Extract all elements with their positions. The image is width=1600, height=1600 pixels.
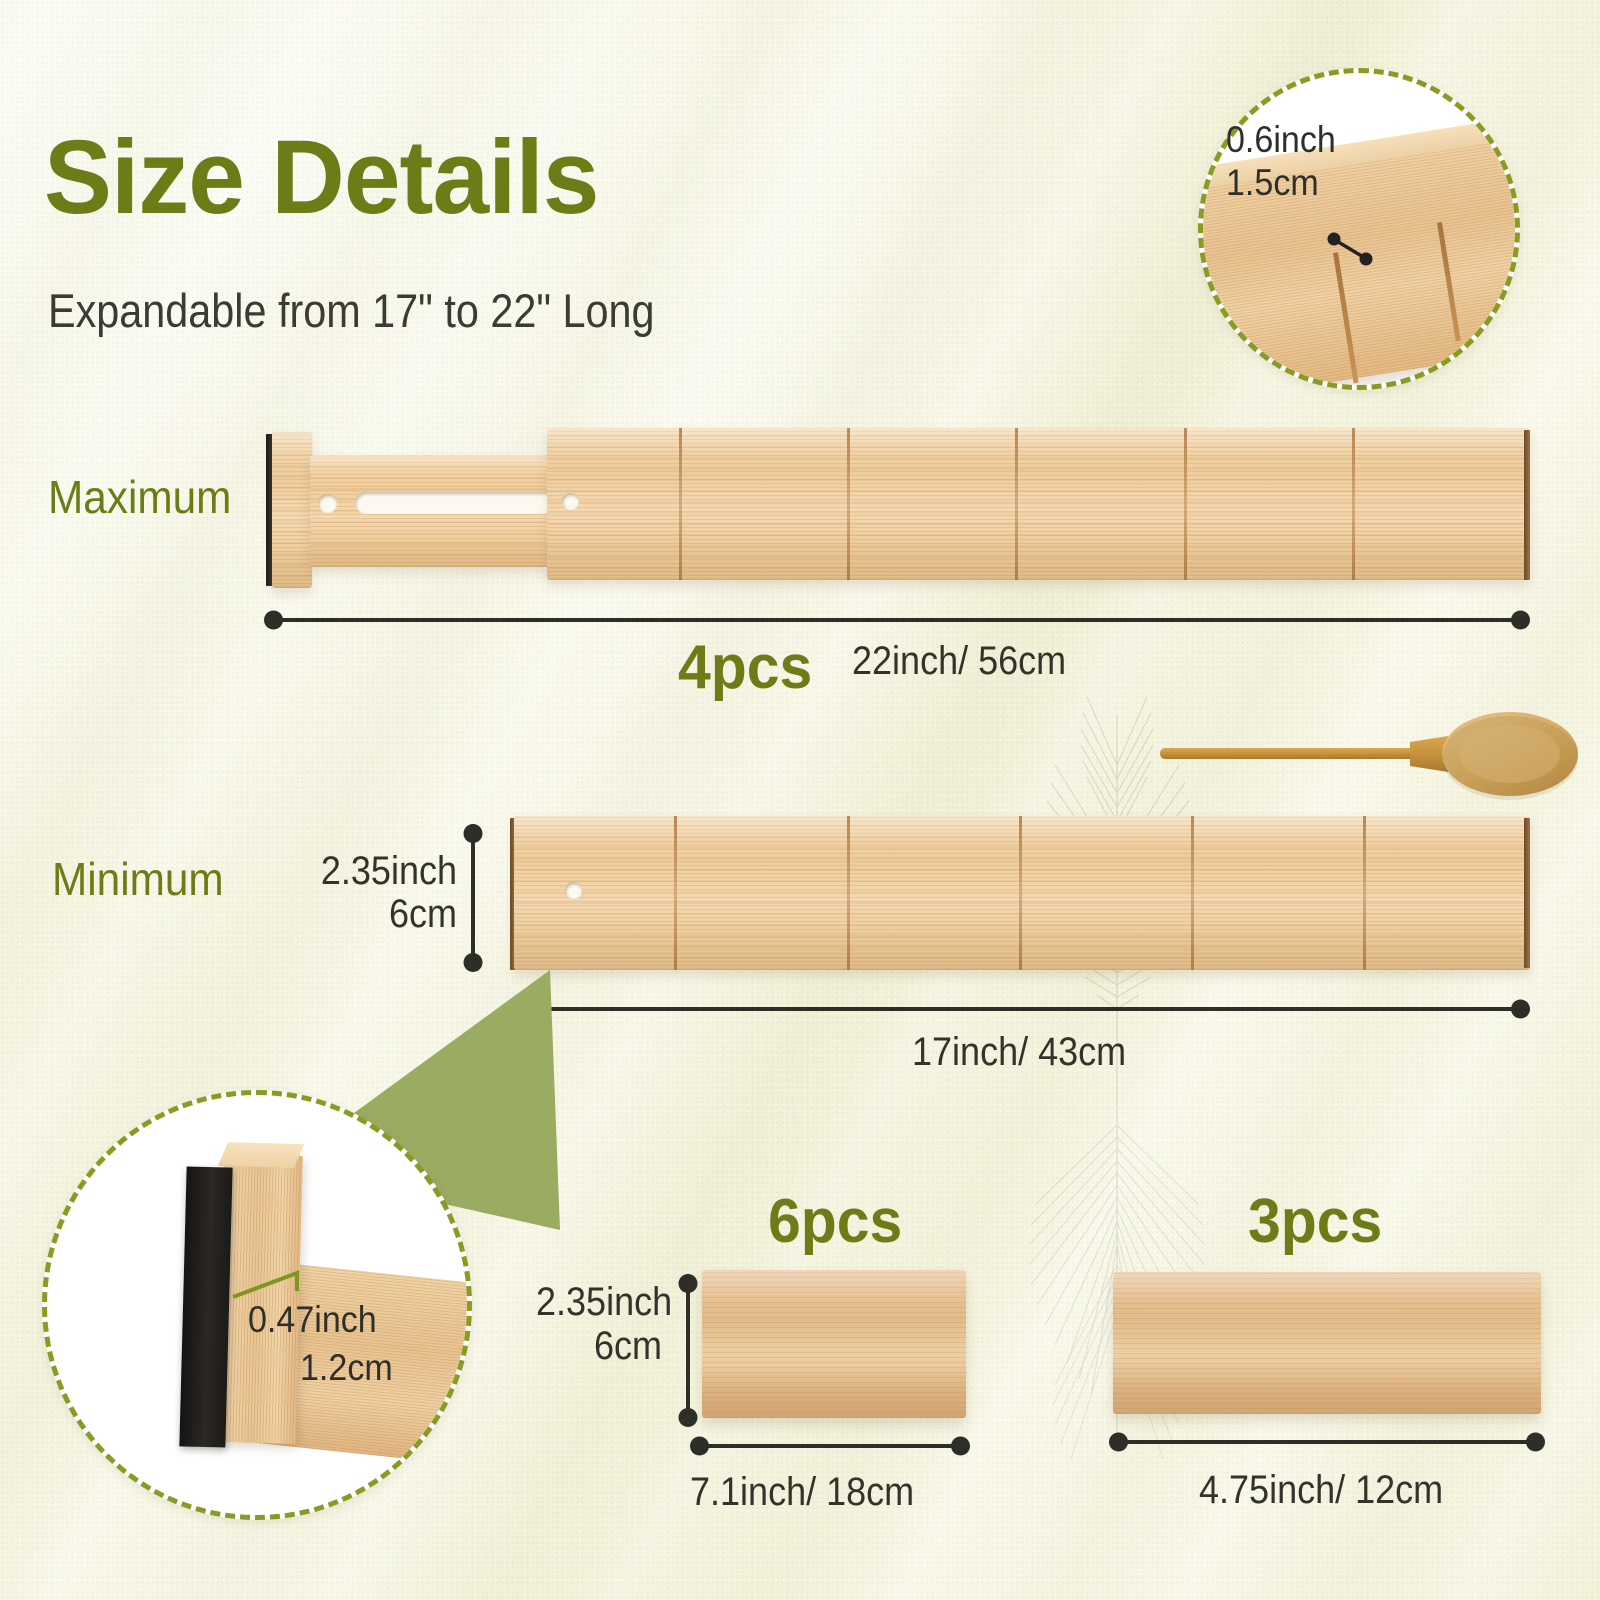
maximum-board-groove-5 — [1352, 428, 1355, 580]
medium-piece-board — [702, 1270, 966, 1418]
medium-piece-count-label: 6pcs — [768, 1186, 902, 1257]
maximum-board-groove-3 — [1015, 428, 1018, 580]
minimum-board-groove-1 — [674, 816, 677, 970]
thickness-callout-bottom-label-line1: 0.47inch — [248, 1300, 377, 1340]
page-title: Size Details — [44, 118, 598, 238]
maximum-board-groove-2 — [847, 428, 850, 580]
maximum-label: Maximum — [48, 470, 231, 524]
maximum-count-label: 4pcs — [678, 632, 812, 703]
thickness-callout-top — [1198, 68, 1520, 390]
minimum-board-groove-3 — [1019, 816, 1022, 970]
maximum-board-right-edge — [1524, 430, 1530, 580]
minimum-board-right-edge — [1524, 818, 1530, 968]
medium-piece-width-rule — [694, 1444, 966, 1448]
minimum-height-label-line2: 6cm — [313, 893, 457, 935]
small-piece-count-label: 3pcs — [1248, 1186, 1382, 1257]
maximum-rail-hole — [318, 494, 337, 513]
medium-piece-height-rule — [686, 1278, 690, 1423]
page-subtitle: Expandable from 17" to 22" Long — [48, 283, 655, 338]
minimum-divider-board — [514, 816, 1530, 970]
minimum-label: Minimum — [52, 852, 224, 906]
maximum-length-rule — [268, 618, 1526, 622]
small-piece-width-rule — [1113, 1440, 1541, 1444]
minimum-length-rule — [514, 1007, 1526, 1011]
small-piece-board — [1113, 1272, 1541, 1414]
maximum-rail-slot — [355, 492, 555, 514]
minimum-height-label-line1: 2.35inch — [313, 850, 457, 892]
medium-piece-height-line1: 2.35inch — [536, 1281, 662, 1323]
maximum-divider-board — [547, 428, 1530, 580]
thickness-callout-bottom-label-line2: 1.2cm — [300, 1348, 393, 1388]
maximum-length-label: 22inch/ 56cm — [852, 639, 1066, 684]
maximum-end-cap — [272, 432, 312, 588]
maximum-board-groove-4 — [1184, 428, 1187, 580]
infographic-canvas: Size Details Expandable from 17" to 22" … — [0, 0, 1600, 1600]
maximum-board-groove-1 — [679, 428, 682, 580]
wooden-spoon-decoration — [1148, 698, 1588, 806]
medium-piece-height-line2: 6cm — [536, 1325, 662, 1367]
minimum-board-groove-5 — [1363, 816, 1366, 970]
medium-piece-width-label: 7.1inch/ 18cm — [690, 1470, 914, 1515]
thickness-callout-top-label-line2: 1.5cm — [1226, 163, 1319, 203]
thickness-callout-top-label-line1: 0.6inch — [1226, 120, 1336, 160]
minimum-board-groove-2 — [847, 816, 850, 970]
maximum-board-hole — [562, 493, 579, 510]
small-piece-width-label: 4.75inch/ 12cm — [1199, 1468, 1443, 1513]
minimum-board-hole — [565, 882, 582, 899]
minimum-length-label: 17inch/ 43cm — [912, 1030, 1126, 1075]
minimum-board-groove-4 — [1191, 816, 1194, 970]
minimum-height-rule — [471, 828, 475, 968]
